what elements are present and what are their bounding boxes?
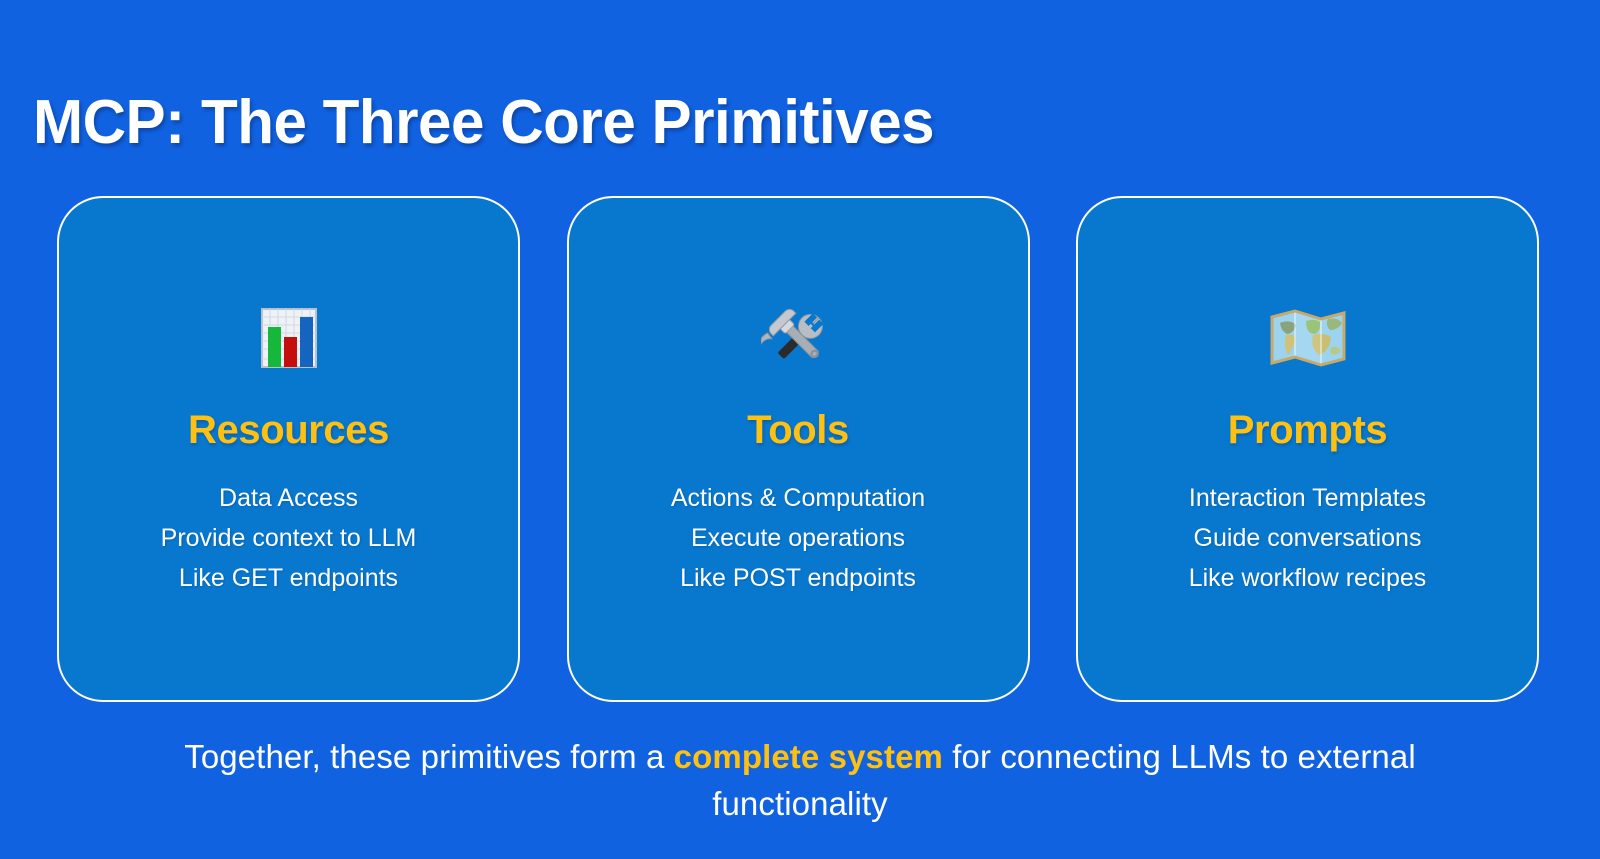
card-heading: Prompts (1228, 410, 1387, 450)
summary-caption: Together, these primitives form a comple… (0, 734, 1600, 828)
card-line: Execute operations (691, 522, 905, 554)
card-line: Actions & Computation (671, 482, 925, 514)
bar-chart-icon (254, 294, 324, 382)
primitive-cards-row: Resources Data Access Provide context to… (57, 196, 1539, 702)
hammer-and-wrench-icon (761, 294, 835, 382)
card-line: Like GET endpoints (179, 562, 398, 594)
card-description: Data Access Provide context to LLM Like … (161, 482, 417, 594)
card-line: Interaction Templates (1189, 482, 1426, 514)
card-description: Interaction Templates Guide conversation… (1189, 482, 1427, 594)
card-prompts[interactable]: Prompts Interaction Templates Guide conv… (1076, 196, 1539, 702)
card-resources[interactable]: Resources Data Access Provide context to… (57, 196, 520, 702)
card-heading: Tools (747, 410, 849, 450)
caption-before: Together, these primitives form a (184, 738, 673, 775)
card-line: Like POST endpoints (680, 562, 916, 594)
card-line: Data Access (219, 482, 358, 514)
card-tools[interactable]: Tools Actions & Computation Execute oper… (567, 196, 1030, 702)
card-description: Actions & Computation Execute operations… (671, 482, 925, 594)
page-title: MCP: The Three Core Primitives (33, 92, 934, 154)
card-line: Provide context to LLM (161, 522, 417, 554)
caption-accent: complete system (674, 738, 943, 775)
world-map-icon (1266, 294, 1350, 382)
card-line: Like workflow recipes (1189, 562, 1427, 594)
card-line: Guide conversations (1194, 522, 1422, 554)
card-heading: Resources (188, 410, 389, 450)
